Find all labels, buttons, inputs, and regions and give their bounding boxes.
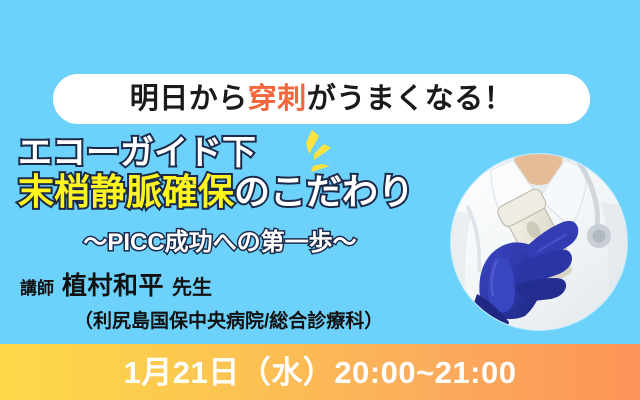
event-datetime: 1月21日（水）20:00~21:00	[124, 357, 517, 388]
doctor-photo-illustration	[451, 154, 627, 330]
speaker-name: 植村和平	[62, 266, 164, 302]
headline-pill: 明日から穿刺がうまくなる！	[53, 74, 590, 124]
headline-text: 明日から穿刺がうまくなる！	[130, 85, 514, 114]
headline-suffix: がうまくなる！	[307, 83, 514, 115]
title-highlight: 末梢静脈確保	[18, 171, 234, 212]
headline-prefix: 明日から	[130, 83, 248, 115]
webinar-banner: 明日から穿刺がうまくなる！	[0, 0, 640, 400]
headline-accent-word: 穿刺	[248, 83, 307, 115]
speaker-honorific: 先生	[172, 271, 212, 300]
speaker-label: 講師	[20, 274, 54, 299]
title-line-1: エコーガイド下	[18, 136, 458, 171]
sparkle-icon	[286, 130, 332, 180]
title-line-2: 末梢静脈確保のこだわり	[18, 174, 458, 211]
speaker-row: 講師 植村和平 先生	[20, 266, 212, 302]
speaker-affiliation: （利尻島国保中央病院/総合診療科）	[74, 306, 383, 333]
title-block: エコーガイド下 末梢静脈確保のこだわり	[18, 136, 458, 210]
footer-bar: 1月21日（水）20:00~21:00	[0, 344, 640, 400]
sub-title: 〜PICC成功への第一歩〜	[0, 230, 440, 256]
doctor-photo	[451, 154, 627, 330]
